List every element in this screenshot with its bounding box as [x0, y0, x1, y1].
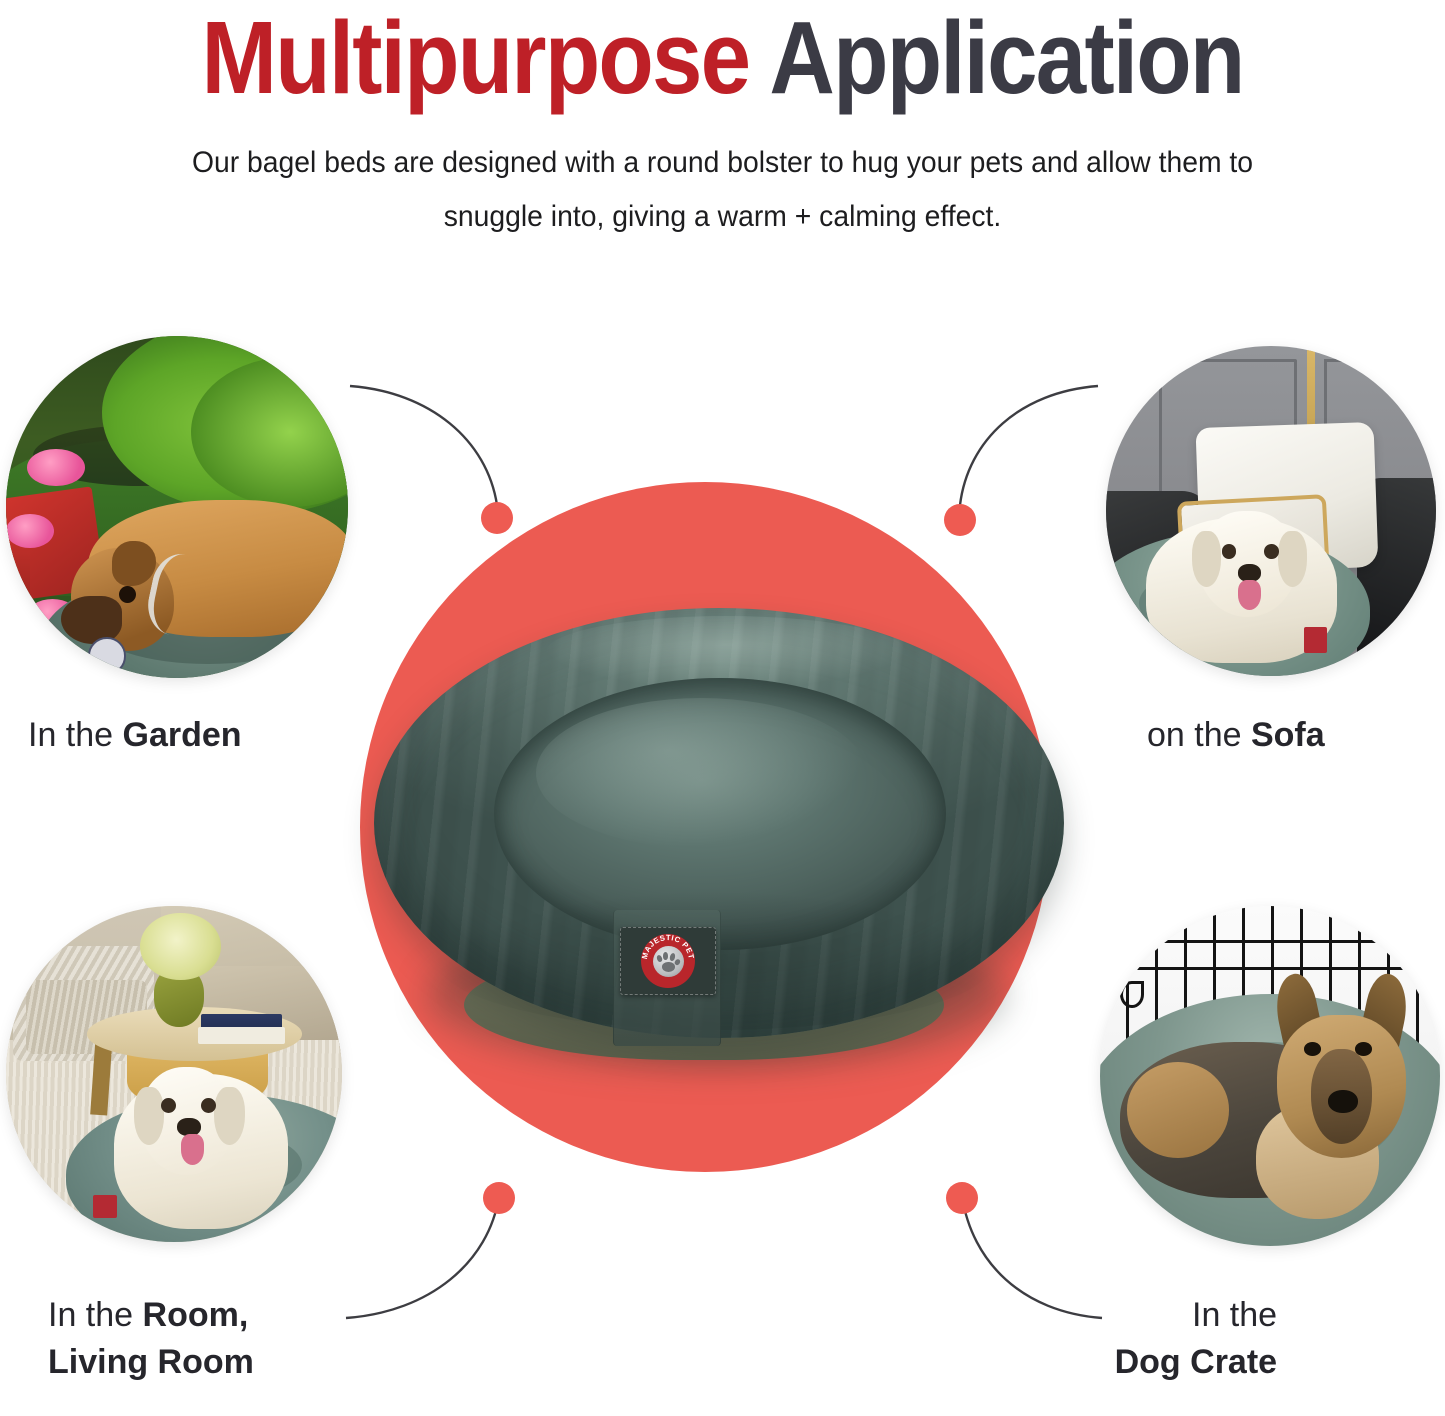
caption-dog-crate: In the Dog Crate	[1192, 1292, 1277, 1386]
photo-dog-on-sofa	[1106, 346, 1436, 676]
infographic-page: Multipurpose Application Our bagel beds …	[0, 0, 1445, 1416]
caption-sofa: on the Sofa	[1147, 712, 1325, 759]
brand-tag-label: MAJESTIC PET	[641, 934, 695, 960]
brand-tag-text: MAJESTIC PET	[641, 934, 695, 988]
caption-living-room: In the Room, Living Room	[48, 1292, 254, 1386]
bed-cushion-sheen	[536, 698, 866, 848]
connector-dog-crate	[962, 1196, 1102, 1318]
svg-text:MAJESTIC PET: MAJESTIC PET	[641, 934, 695, 960]
brand-tag-disc: MAJESTIC PET	[641, 934, 695, 988]
product-image-bagel-pet-bed: MAJESTIC PET	[366, 590, 1078, 1110]
header: Multipurpose Application Our bagel beds …	[0, 0, 1445, 244]
caption-living-room-bold: Room,	[143, 1296, 249, 1334]
caption-dog-crate-line2: Dog Crate	[1115, 1343, 1277, 1381]
photo-dog-in-garden	[6, 336, 348, 678]
caption-garden: In the Garden	[28, 712, 242, 759]
brand-tag: MAJESTIC PET	[620, 927, 716, 995]
caption-living-room-prefix: In the	[48, 1296, 143, 1334]
photo-dog-in-crate	[1100, 906, 1440, 1246]
caption-garden-bold: Garden	[123, 716, 242, 754]
title-word-application: Application	[769, 0, 1243, 115]
caption-sofa-prefix: on the	[1147, 716, 1251, 754]
center-product-stage: MAJESTIC PET	[360, 470, 1090, 1210]
subtitle-line-2: snuggle into, giving a warm + calming ef…	[29, 190, 1416, 244]
title-word-multipurpose: Multipurpose	[201, 0, 749, 115]
subtitle-line-1: Our bagel beds are designed with a round…	[29, 136, 1416, 190]
caption-dog-crate-prefix: In the	[1192, 1296, 1277, 1334]
page-title: Multipurpose Application	[87, 0, 1359, 112]
photo-dog-in-living-room	[6, 906, 342, 1242]
connector-living-room	[346, 1196, 499, 1318]
caption-sofa-bold: Sofa	[1251, 716, 1325, 754]
caption-living-room-line2: Living Room	[48, 1343, 254, 1381]
caption-garden-prefix: In the	[28, 716, 123, 754]
